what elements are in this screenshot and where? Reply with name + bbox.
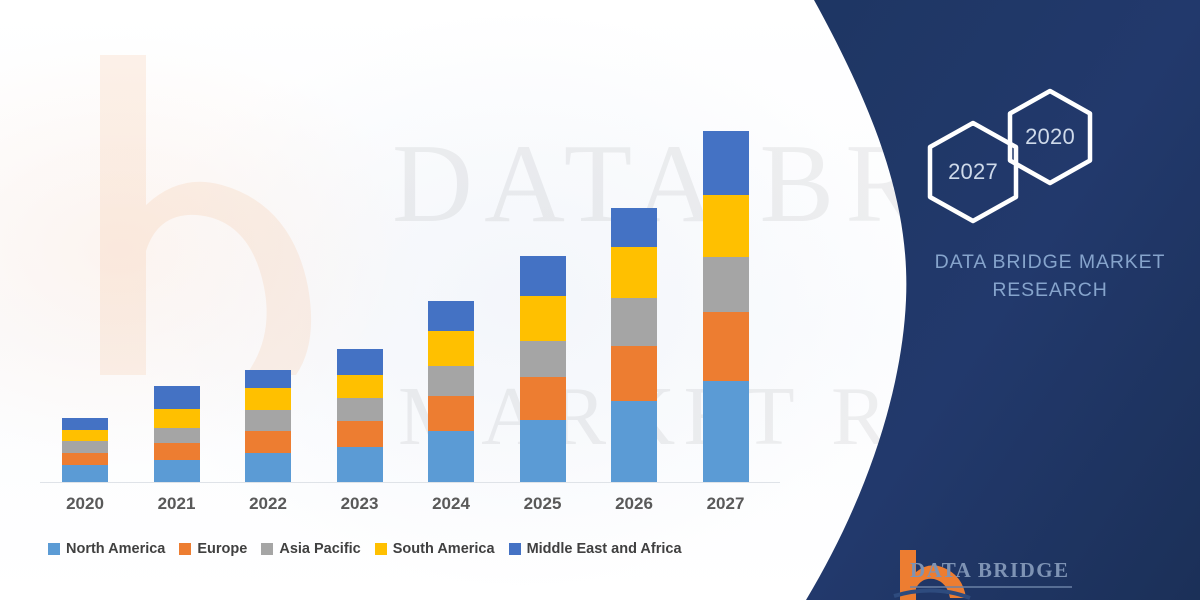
legend-item-europe[interactable]: Europe <box>179 541 247 557</box>
bar-segment-2024-asia-pacific <box>428 366 474 395</box>
bar-segment-2020-asia-pacific <box>62 441 108 453</box>
legend-item-middle-east-and-africa[interactable]: Middle East and Africa <box>509 541 682 557</box>
bar-segment-2022-north-america <box>245 453 291 482</box>
bar-segment-2025-asia-pacific <box>520 341 566 378</box>
infographic-canvas: DATA BRIDGE MARKET RESEARCH 202020212022… <box>0 0 1200 600</box>
legend-label: North America <box>66 541 165 557</box>
bar-segment-2022-europe <box>245 431 291 453</box>
bar-segment-2026-north-america <box>611 401 657 482</box>
bar-segment-2020-europe <box>62 453 108 466</box>
bar-segment-2023-north-america <box>337 447 383 482</box>
bar-group-2027 <box>703 131 749 482</box>
hexagon-badge-2020: 2020 <box>1006 88 1094 186</box>
bar-segment-2021-middle-east-and-africa <box>154 386 200 410</box>
bar-group-2020 <box>62 418 108 482</box>
bar-segment-2023-asia-pacific <box>337 398 383 421</box>
legend-swatch-icon <box>375 543 387 555</box>
legend-label: Middle East and Africa <box>527 541 682 557</box>
bar-segment-2023-south-america <box>337 375 383 399</box>
legend-item-south-america[interactable]: South America <box>375 541 495 557</box>
bar-segment-2021-europe <box>154 443 200 460</box>
bar-segment-2020-middle-east-and-africa <box>62 418 108 430</box>
bar-segment-2023-middle-east-and-africa <box>337 349 383 375</box>
bar-segment-2022-asia-pacific <box>245 410 291 430</box>
bar-group-2024 <box>428 301 474 482</box>
bar-segment-2024-south-america <box>428 331 474 366</box>
bar-segment-2020-south-america <box>62 430 108 441</box>
chart-panel: DATA BRIDGE MARKET RESEARCH 202020212022… <box>0 0 900 600</box>
bar-segment-2026-europe <box>611 346 657 401</box>
bar-segment-2023-europe <box>337 421 383 447</box>
bar-segment-2027-south-america <box>703 195 749 257</box>
brand-name-line-1: DATA BRIDGE MARKET <box>935 251 1166 273</box>
bar-segment-2026-south-america <box>611 247 657 298</box>
legend-swatch-icon <box>48 543 60 555</box>
chart-legend: North AmericaEuropeAsia PacificSouth Ame… <box>48 541 682 557</box>
footer-underline <box>910 586 1072 588</box>
bar-segment-2021-south-america <box>154 409 200 427</box>
bar-segment-2024-north-america <box>428 431 474 482</box>
hexagon-2020-label: 2020 <box>1006 88 1094 186</box>
bar-segment-2022-south-america <box>245 388 291 410</box>
x-axis-label-2021: 2021 <box>132 494 222 514</box>
x-axis-label-2022: 2022 <box>223 494 313 514</box>
brand-name-line-2: RESEARCH <box>992 279 1107 301</box>
legend-item-asia-pacific[interactable]: Asia Pacific <box>261 541 360 557</box>
x-axis-label-2026: 2026 <box>589 494 679 514</box>
legend-label: Europe <box>197 541 247 557</box>
bar-segment-2025-europe <box>520 377 566 419</box>
legend-label: South America <box>393 541 495 557</box>
bar-group-2025 <box>520 256 566 482</box>
bar-segment-2025-middle-east-and-africa <box>520 256 566 296</box>
x-axis-label-2027: 2027 <box>681 494 771 514</box>
bar-segment-2025-south-america <box>520 296 566 340</box>
axis-baseline <box>40 482 780 483</box>
legend-item-north-america[interactable]: North America <box>48 541 165 557</box>
bar-segment-2027-middle-east-and-africa <box>703 131 749 195</box>
bar-segment-2022-middle-east-and-africa <box>245 370 291 388</box>
legend-swatch-icon <box>261 543 273 555</box>
bar-segment-2021-north-america <box>154 460 200 482</box>
x-axis-label-2025: 2025 <box>498 494 588 514</box>
bar-segment-2026-asia-pacific <box>611 298 657 346</box>
bar-segment-2024-europe <box>428 396 474 431</box>
bar-segment-2024-middle-east-and-africa <box>428 301 474 331</box>
bar-segment-2027-asia-pacific <box>703 257 749 312</box>
x-axis-label-2024: 2024 <box>406 494 496 514</box>
bar-group-2022 <box>245 370 291 482</box>
legend-label: Asia Pacific <box>279 541 360 557</box>
bar-segment-2020-north-america <box>62 465 108 482</box>
bar-segment-2021-asia-pacific <box>154 428 200 444</box>
bar-group-2023 <box>337 349 383 482</box>
bar-segment-2027-europe <box>703 312 749 381</box>
bar-segment-2027-north-america <box>703 381 749 482</box>
legend-swatch-icon <box>179 543 191 555</box>
bar-group-2021 <box>154 386 200 482</box>
x-axis-label-2020: 2020 <box>40 494 130 514</box>
navy-panel-content: 2027 2020 DATA BRIDGE MARKET RESEARCH DA… <box>900 0 1200 600</box>
brand-name: DATA BRIDGE MARKET RESEARCH <box>900 248 1200 305</box>
x-axis-label-2023: 2023 <box>315 494 405 514</box>
bar-group-2026 <box>611 208 657 482</box>
plot-area: 20202021202220232024202520262027 <box>0 0 800 600</box>
legend-swatch-icon <box>509 543 521 555</box>
bar-segment-2025-north-america <box>520 420 566 482</box>
bar-segment-2026-middle-east-and-africa <box>611 208 657 247</box>
footer-brand-text: DATA BRIDGE <box>910 558 1070 583</box>
